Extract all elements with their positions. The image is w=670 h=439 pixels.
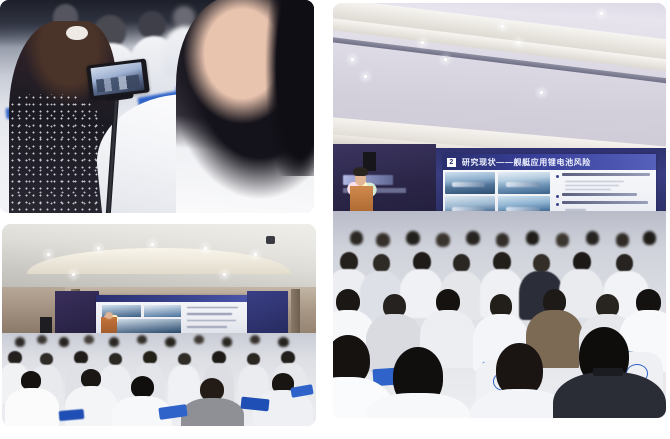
attendee-hair <box>264 0 314 176</box>
slide-bullet-line <box>187 307 238 309</box>
attendee-head <box>247 353 260 365</box>
ceiling-spotlight <box>150 242 155 247</box>
attendee-head <box>40 353 53 365</box>
bullet-dot-icon <box>556 203 559 206</box>
attendee-head <box>466 231 479 245</box>
ceiling-spotlight <box>350 57 355 62</box>
speaker-presenter <box>355 171 366 186</box>
attendee-head <box>109 353 122 365</box>
ceiling-spotlight <box>500 24 505 29</box>
photo-collage: 2 研究现状——舰艇应用锂电池风险 <box>0 0 670 439</box>
attendee-head <box>373 254 390 272</box>
slide-bullet <box>556 173 652 178</box>
bullet-subtext <box>565 185 619 186</box>
photo-audience-phone-content <box>0 0 314 213</box>
ceiling-spotlight <box>443 57 448 62</box>
attendee-head <box>212 351 226 364</box>
slide-title-bar: 2 研究现状——舰艇应用锂电池风险 <box>443 154 656 169</box>
attendee-head <box>496 233 509 246</box>
photo-hall-wide-content <box>2 224 316 426</box>
attendee-head <box>37 335 47 344</box>
slide-number: 2 <box>447 158 456 167</box>
chair-sash <box>240 396 269 411</box>
photo-audience-phone[interactable] <box>0 0 314 213</box>
slide-bullet-line <box>187 326 228 328</box>
bullet-text <box>562 173 651 176</box>
smartphone-screen <box>91 62 145 96</box>
bullet-dot-icon <box>556 195 559 198</box>
slide-title-bar <box>96 295 247 303</box>
attendee-head <box>406 231 419 245</box>
slide-bullet-line <box>187 320 237 322</box>
attendee-body <box>181 398 244 426</box>
photo-hall-tall[interactable]: 2 研究现状——舰艇应用锂电池风险 <box>333 3 666 418</box>
attendee-head <box>436 233 449 246</box>
slide-image-mid <box>144 305 180 317</box>
bullet-dot-icon <box>556 175 559 178</box>
attendee-head <box>616 254 633 272</box>
patterned-dress <box>9 94 103 213</box>
attendee-head <box>533 254 550 272</box>
attendee-head <box>376 233 389 246</box>
attendee-head <box>281 351 295 364</box>
speaker-head <box>105 312 113 319</box>
attendee-head <box>15 337 26 347</box>
eyeglasses <box>593 368 623 376</box>
attendee-head <box>350 231 363 245</box>
attendee-head <box>165 337 176 347</box>
attendee-head <box>616 233 629 246</box>
attendee-body <box>65 386 118 426</box>
attendee-head <box>194 335 204 344</box>
bullet-text <box>562 201 649 204</box>
attendee-head <box>556 233 569 246</box>
attendee-head <box>278 337 289 347</box>
slide-bullet <box>556 193 652 198</box>
ceiling-spotlight <box>363 74 368 79</box>
attendee-body <box>5 388 58 426</box>
attendee-head <box>138 11 166 39</box>
attendee-head <box>8 351 22 364</box>
smartphone <box>86 58 149 99</box>
attendee-head <box>453 254 470 272</box>
slide-image-ship <box>498 172 550 194</box>
bullet-subtext <box>565 181 625 182</box>
attendee-head <box>131 376 154 398</box>
bullet-subtext <box>565 189 611 190</box>
security-camera <box>266 236 275 244</box>
ceiling-spotlight <box>420 40 425 45</box>
slide-title: 研究现状——舰艇应用锂电池风险 <box>462 157 591 168</box>
slide-bullet-line <box>187 313 232 315</box>
stage-backdrop-left <box>55 291 99 339</box>
attendee-head <box>643 231 656 245</box>
photo-hall-tall-content: 2 研究现状——舰艇应用锂电池风险 <box>333 3 666 418</box>
bullet-text <box>562 193 637 196</box>
attendee-head <box>178 353 191 365</box>
attendee-head <box>74 351 88 364</box>
photo-hall-wide[interactable] <box>2 224 316 426</box>
chair-sash <box>58 409 84 421</box>
slide-bullet <box>556 201 652 206</box>
attendee-head <box>21 371 41 389</box>
attendee-head <box>143 351 157 364</box>
attendee-head <box>84 335 94 344</box>
stage-backdrop-right <box>247 291 288 337</box>
attendee-body <box>553 372 666 418</box>
attendee-woman-right <box>176 0 314 213</box>
slide-image-ship <box>445 172 495 194</box>
attendee-head <box>59 337 70 347</box>
